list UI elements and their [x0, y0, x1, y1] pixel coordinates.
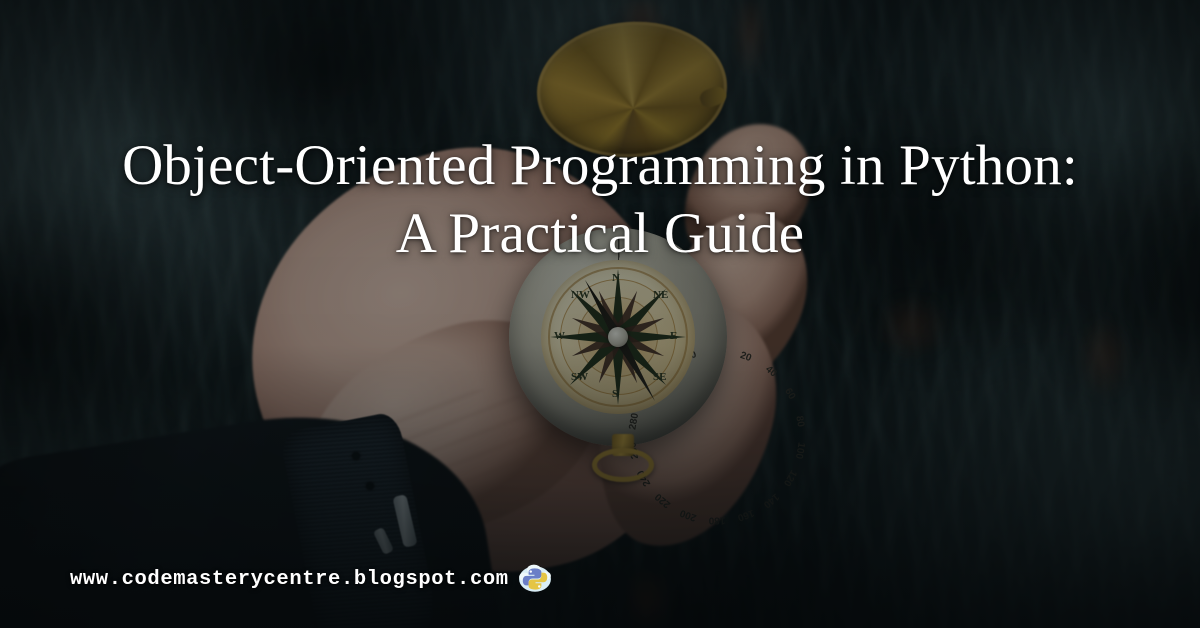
- footer-watermark: www.codemasterycentre.blogspot.com: [70, 562, 552, 596]
- compass-cardinal-label: W: [554, 330, 565, 342]
- strap-hole: [352, 452, 360, 460]
- compass-cardinal-label: SW: [571, 371, 588, 383]
- site-url-text: www.codemasterycentre.blogspot.com: [70, 568, 509, 591]
- python-logo-icon: [518, 562, 552, 596]
- compass-cardinal-label: NW: [571, 289, 590, 301]
- compass-cardinal-label: N: [612, 272, 620, 284]
- compass-cardinal-label: NE: [653, 289, 668, 301]
- compass-degree-label: 280: [627, 412, 641, 430]
- compass-cardinal-label: S: [612, 388, 618, 400]
- compass-bail-ring: [592, 448, 654, 482]
- compass-cardinal-label: SE: [653, 371, 666, 383]
- strap-hole: [366, 482, 374, 490]
- compass-needle-pivot: [608, 327, 628, 347]
- compass-cardinal-label: E: [670, 330, 677, 342]
- background-photo: 2040608010012014016018020022024026028030…: [0, 0, 1200, 628]
- compass-degree-label: 80: [793, 415, 806, 428]
- blog-header-banner: 2040608010012014016018020022024026028030…: [0, 0, 1200, 628]
- compass-degree-label: 180: [709, 515, 726, 526]
